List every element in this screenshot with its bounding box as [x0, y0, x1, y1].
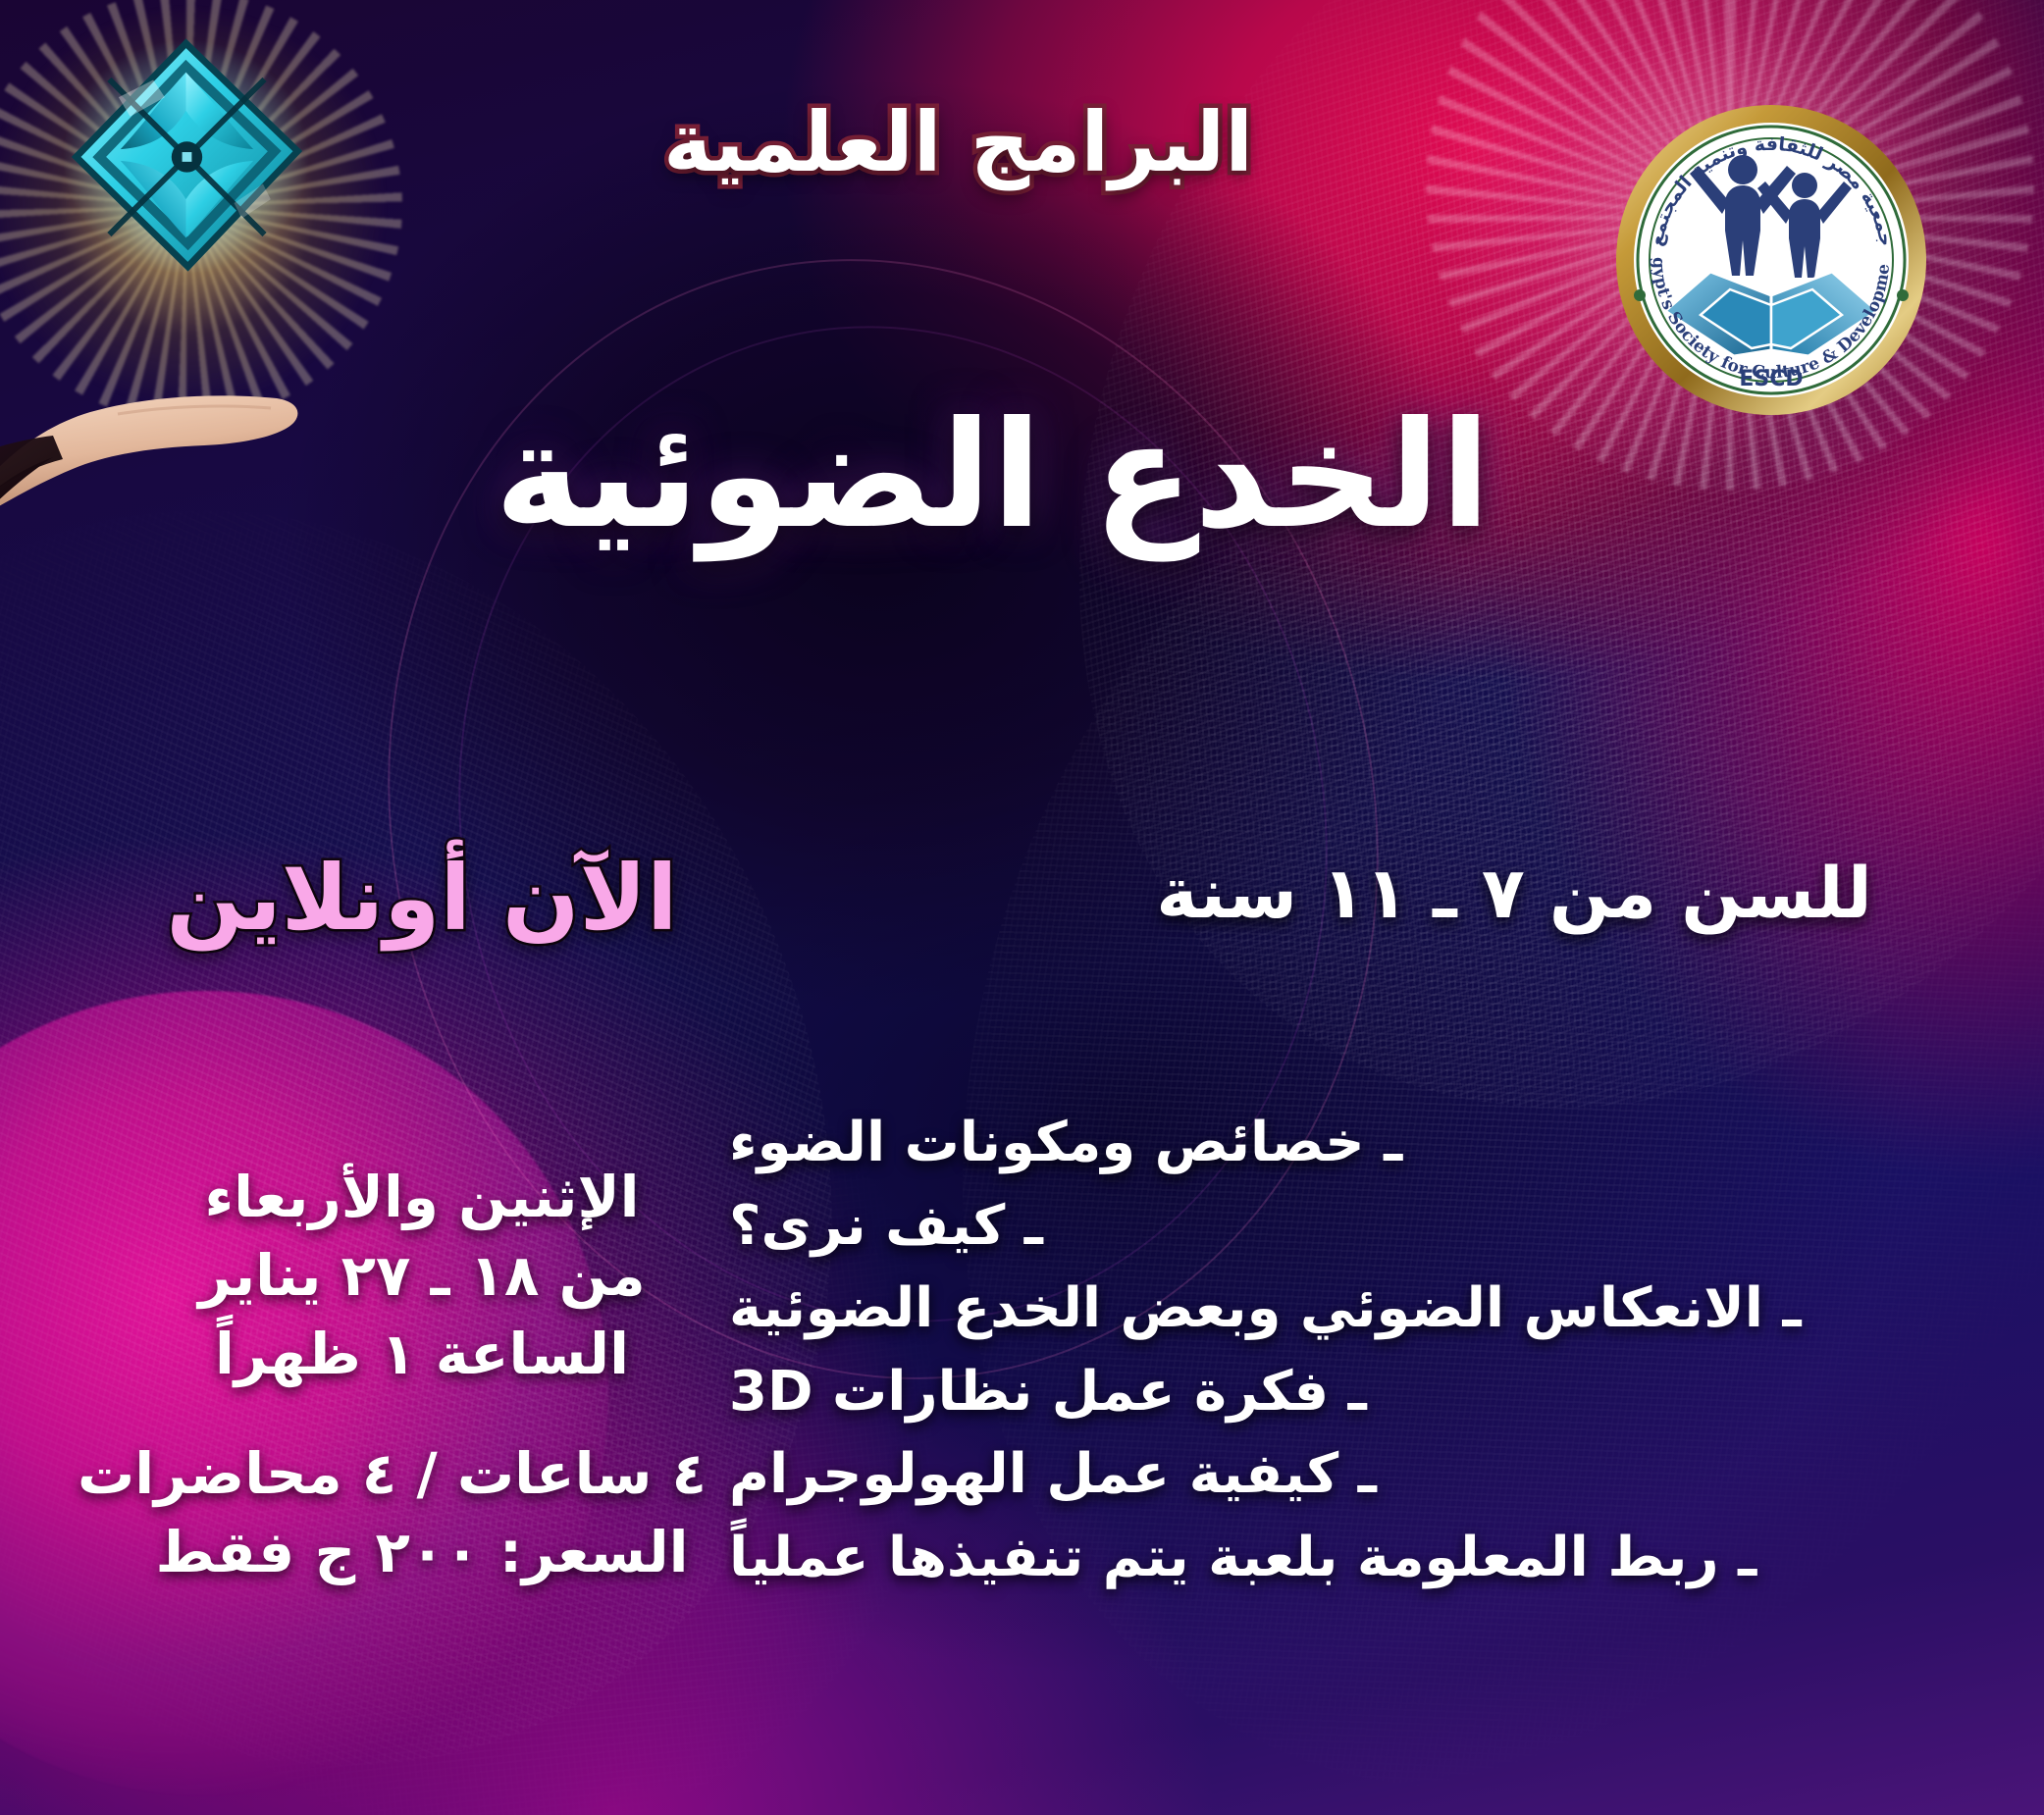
- schedule-days: الإثنين والأربعاء: [137, 1158, 707, 1236]
- list-item: ـ ربط المعلومة بلعبة يتم تنفيذها عملياً: [729, 1524, 1965, 1593]
- schedule-block: الإثنين والأربعاء من ١٨ ـ ٢٧ يناير الساع…: [137, 1158, 707, 1591]
- age-range-label: للسن من ٧ ـ ١١ سنة: [1102, 852, 1926, 934]
- list-item: ـ الانعكاس الضوئي وبعض الخدع الضوئية: [729, 1274, 1965, 1344]
- schedule-spacer: [137, 1393, 707, 1434]
- poster-canvas: ESCD جمعية مصر للثقافة وتنمية المجتمع Eg…: [0, 0, 2044, 1815]
- list-item: ـ فكرة عمل نظارات 3D: [729, 1358, 1965, 1427]
- schedule-duration: ٤ ساعات / ٤ محاضرات: [137, 1434, 707, 1513]
- list-item: ـ كيفية عمل الهولوجرام: [729, 1440, 1965, 1510]
- schedule-price: السعر: ٢٠٠ ج فقط: [137, 1513, 707, 1591]
- list-item: ـ كيف نرى؟: [729, 1192, 1965, 1262]
- schedule-dates: من ١٨ ـ ٢٧ يناير: [137, 1236, 707, 1315]
- program-kicker: البرامج العلمية: [0, 94, 2044, 190]
- schedule-time: الساعة ١ ظهراً: [137, 1315, 707, 1393]
- list-item: ـ خصائص ومكونات الضوء: [729, 1109, 1965, 1178]
- online-badge: الآن أونلاين: [147, 846, 697, 951]
- page-title: الخدع الضوئية: [0, 390, 2044, 561]
- topics-list: ـ خصائص ومكونات الضوء ـ كيف نرى؟ ـ الانع…: [729, 1109, 1965, 1592]
